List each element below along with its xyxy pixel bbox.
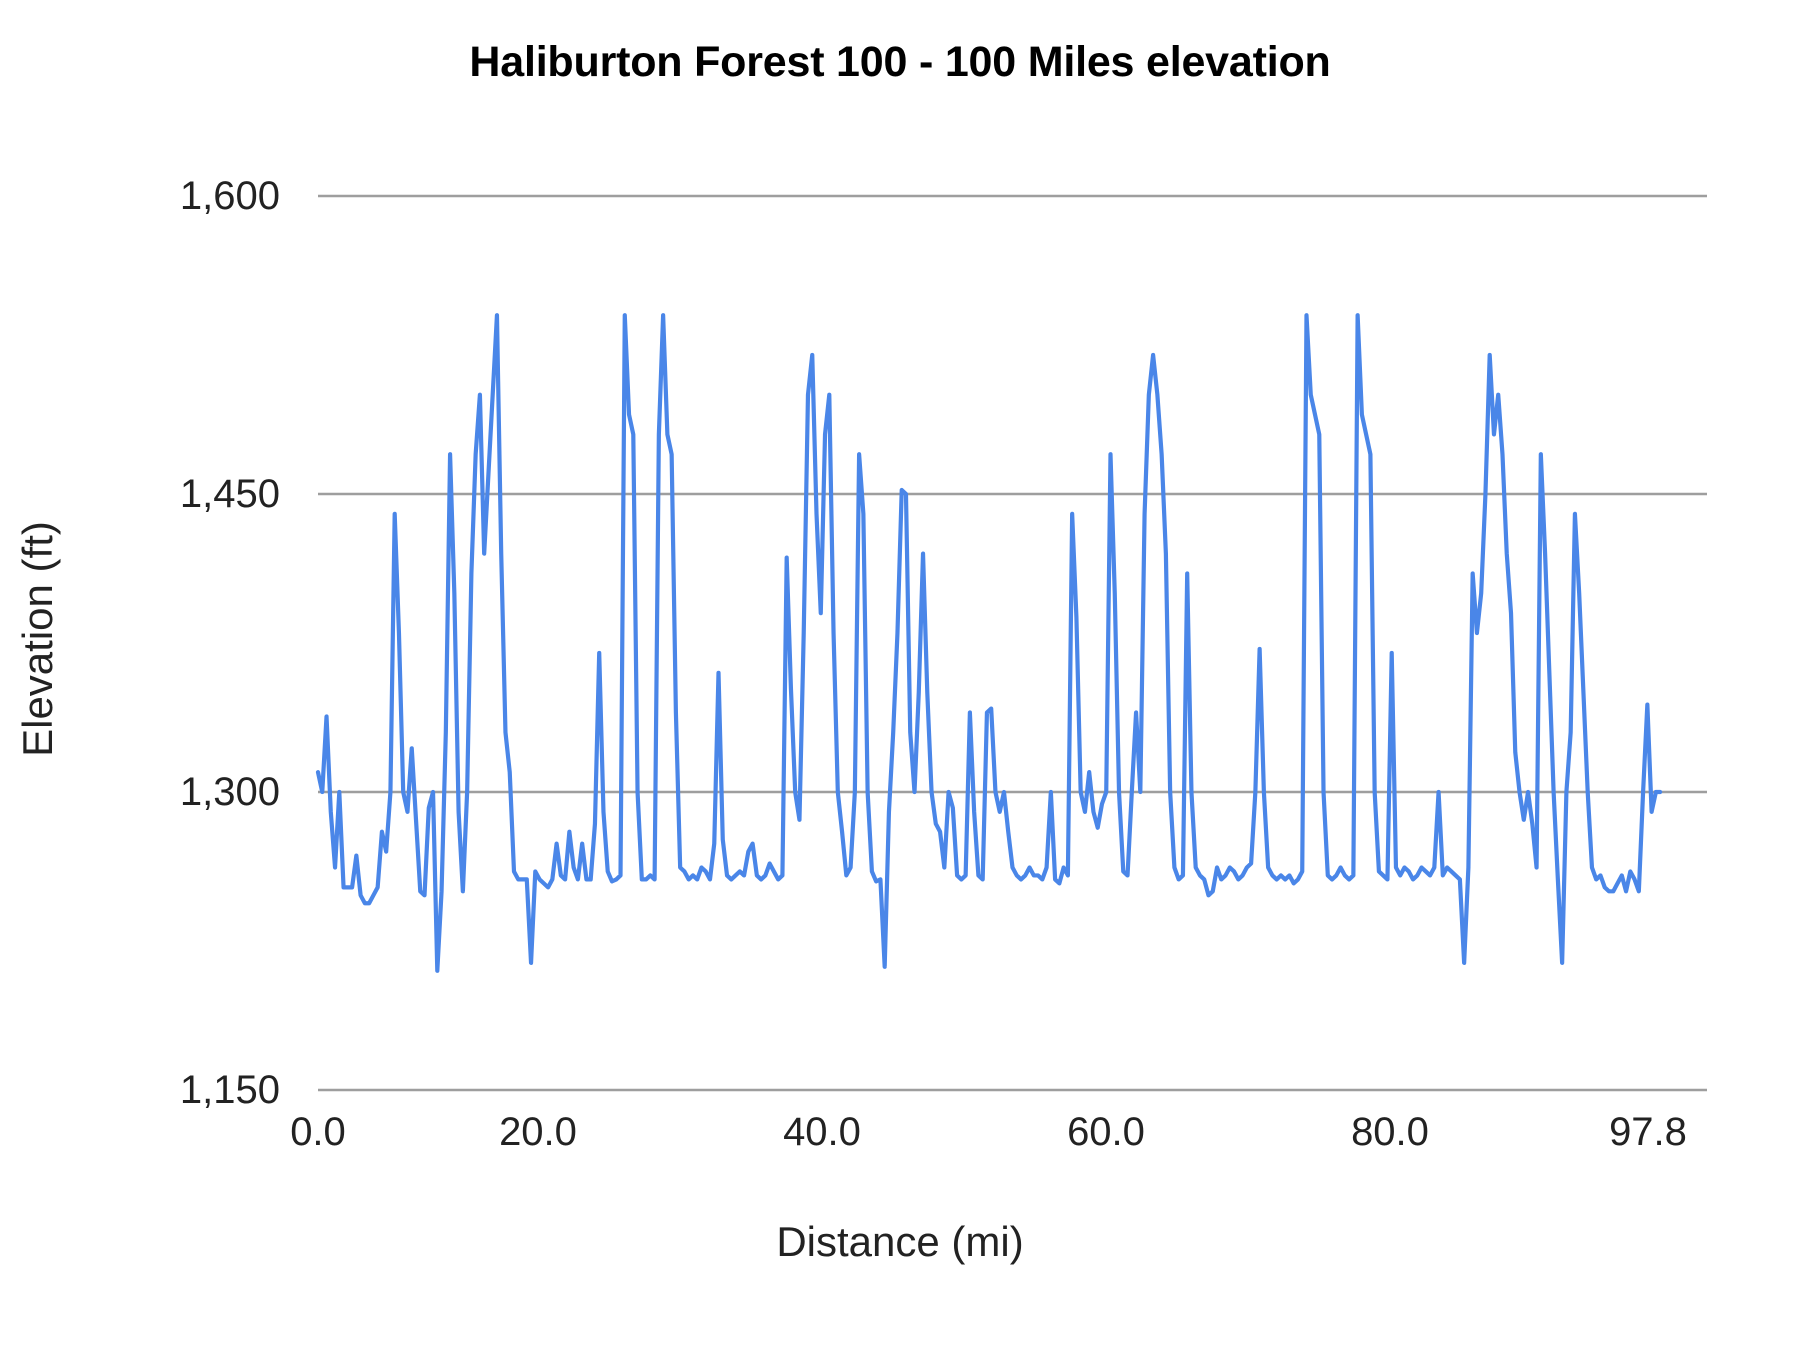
- x-axis-title: Distance (mi): [0, 1218, 1800, 1266]
- x-tick-label-97-8: 97.8: [1528, 1110, 1768, 1155]
- y-axis-title: Elevation (ft): [14, 379, 62, 899]
- x-tick-label-0: 0.0: [198, 1110, 438, 1155]
- gridlines: [318, 196, 1707, 1090]
- y-tick-label-1150: 1,150: [20, 1068, 280, 1113]
- x-tick-label-80: 80.0: [1270, 1110, 1510, 1155]
- series-line-0: [318, 315, 1660, 971]
- elevation-chart: Haliburton Forest 100 - 100 Miles elevat…: [0, 0, 1800, 1350]
- x-tick-label-60: 60.0: [986, 1110, 1226, 1155]
- x-tick-label-40: 40.0: [702, 1110, 942, 1155]
- y-tick-label-1600: 1,600: [20, 174, 280, 219]
- chart-title: Haliburton Forest 100 - 100 Miles elevat…: [0, 38, 1800, 87]
- plot-area: [318, 196, 1707, 1090]
- x-tick-label-20: 20.0: [418, 1110, 658, 1155]
- plot-svg: [318, 196, 1707, 1090]
- series-group: [318, 315, 1660, 971]
